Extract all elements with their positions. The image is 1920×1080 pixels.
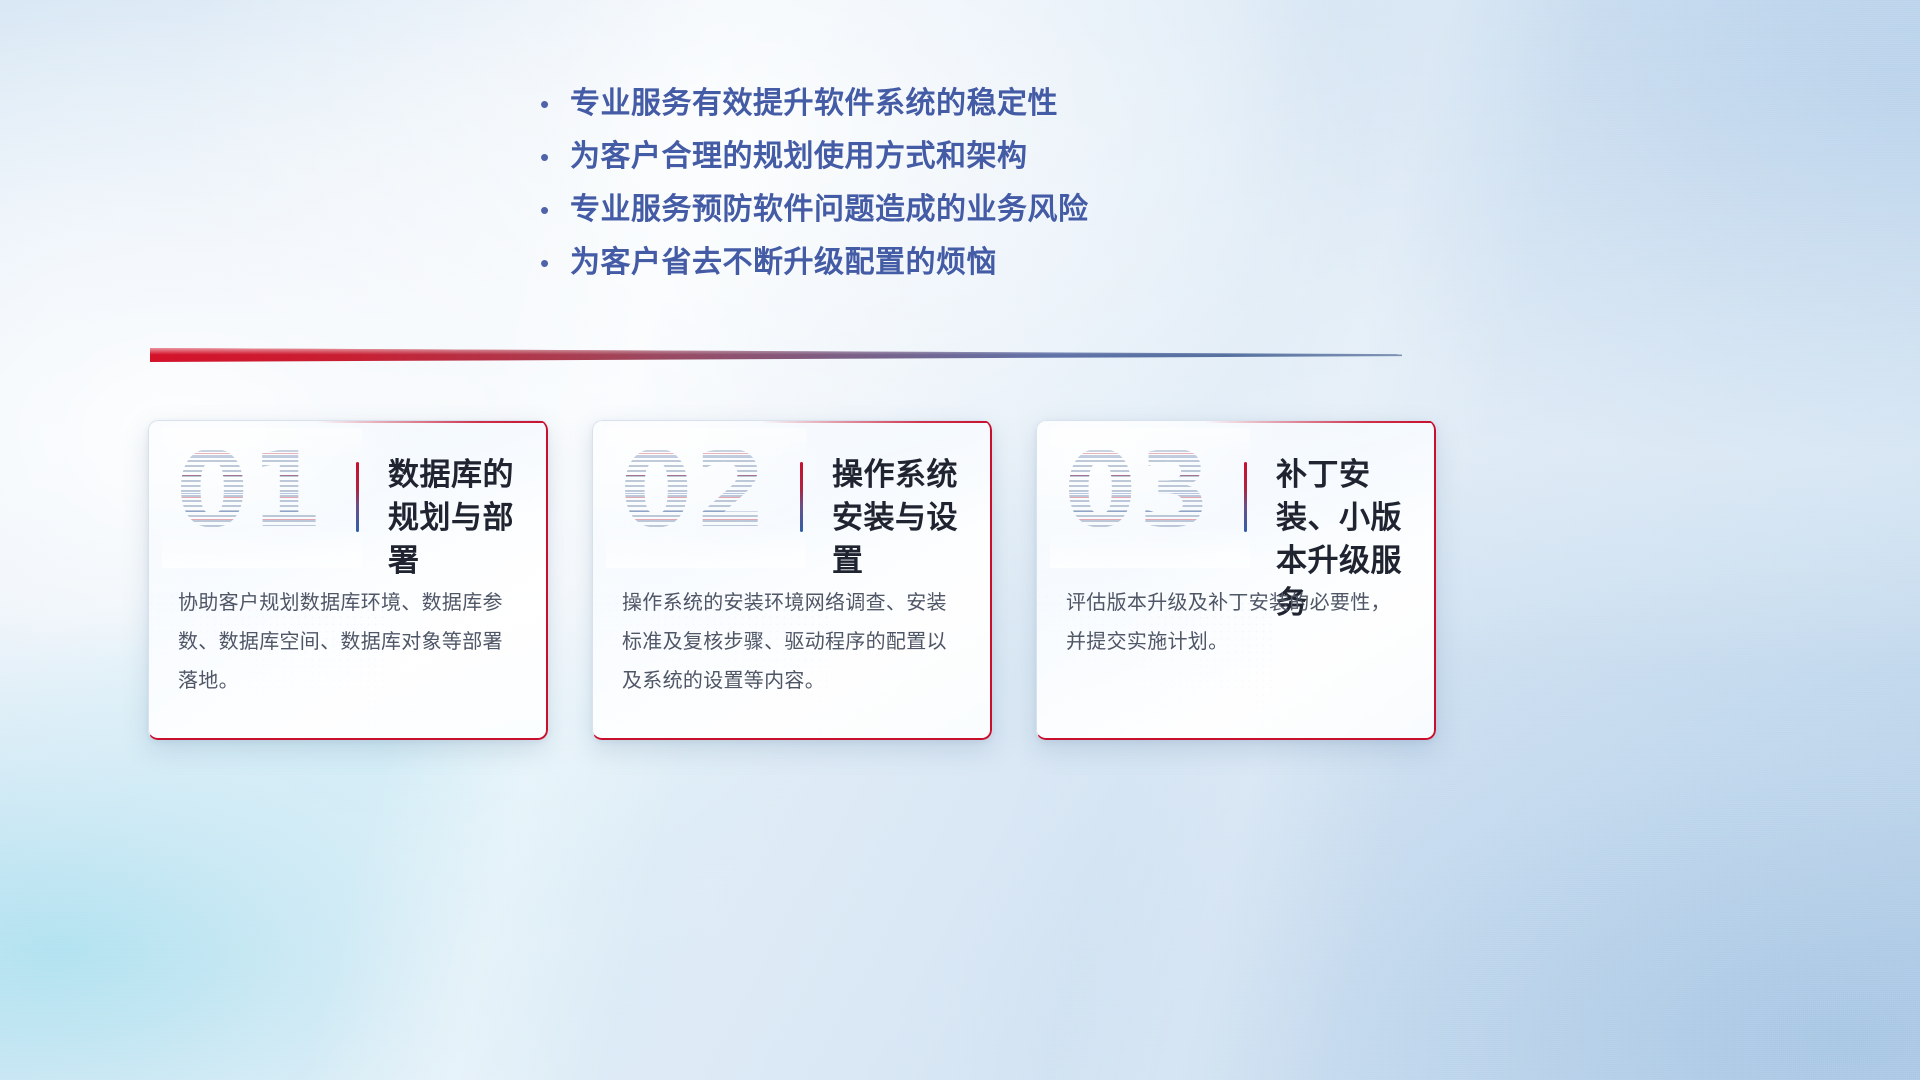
card-title: 数据库的规划与部署 — [388, 454, 538, 582]
bullet-text: 专业服务预防软件问题造成的业务风险 — [570, 192, 1089, 228]
bullet-text: 为客户合理的规划使用方式和架构 — [570, 139, 1028, 175]
service-card-list: 01 01 数据库的规划与部署 协助客户规划数据库环境、数据库参数、数据库空间、… — [148, 420, 1436, 740]
list-item: • 为客户省去不断升级配置的烦恼 — [540, 245, 1089, 298]
service-card[interactable]: 01 01 数据库的规划与部署 协助客户规划数据库环境、数据库参数、数据库空间、… — [148, 420, 548, 740]
benefits-bullet-list: • 专业服务有效提升软件系统的稳定性 • 为客户合理的规划使用方式和架构 • 专… — [540, 86, 1089, 298]
card-title: 操作系统安装与设置 — [832, 454, 982, 582]
list-item: • 专业服务有效提升软件系统的稳定性 — [540, 86, 1089, 139]
card-body-text: 操作系统的安装环境网络调查、安装标准及复核步骤、驱动程序的配置以及系统的设置等内… — [622, 584, 962, 701]
list-item: • 为客户合理的规划使用方式和架构 — [540, 139, 1089, 192]
service-card[interactable]: 02 02 操作系统安装与设置 操作系统的安装环境网络调查、安装标准及复核步骤、… — [592, 420, 992, 740]
card-header: 02 02 操作系统安装与设置 — [592, 420, 992, 568]
bullet-text: 专业服务有效提升软件系统的稳定性 — [570, 86, 1058, 122]
card-header: 03 03 补丁安装、小版本升级服务 — [1036, 420, 1436, 568]
card-number-watermark-tint: 02 — [620, 438, 769, 542]
service-card[interactable]: 03 03 补丁安装、小版本升级服务 评估版本升级及补丁安装的必要性，并提交实施… — [1036, 420, 1436, 740]
card-body-text: 协助客户规划数据库环境、数据库参数、数据库空间、数据库对象等部署落地。 — [178, 584, 518, 701]
bullet-dot-icon: • — [540, 144, 570, 170]
bullet-dot-icon: • — [540, 250, 570, 276]
card-accent-rule — [1244, 462, 1247, 532]
section-divider — [150, 348, 1402, 362]
list-item: • 专业服务预防软件问题造成的业务风险 — [540, 192, 1089, 245]
card-body-text: 评估版本升级及补丁安装的必要性，并提交实施计划。 — [1066, 584, 1406, 662]
bullet-dot-icon: • — [540, 197, 570, 223]
card-header: 01 01 数据库的规划与部署 — [148, 420, 548, 568]
card-accent-rule — [800, 462, 803, 532]
bullet-dot-icon: • — [540, 91, 570, 117]
bullet-text: 为客户省去不断升级配置的烦恼 — [570, 245, 997, 281]
card-number-watermark-tint: 03 — [1064, 438, 1213, 542]
slide-content: • 专业服务有效提升软件系统的稳定性 • 为客户合理的规划使用方式和架构 • 专… — [0, 0, 1920, 1080]
card-number-watermark-tint: 01 — [176, 438, 325, 542]
card-accent-rule — [356, 462, 359, 532]
